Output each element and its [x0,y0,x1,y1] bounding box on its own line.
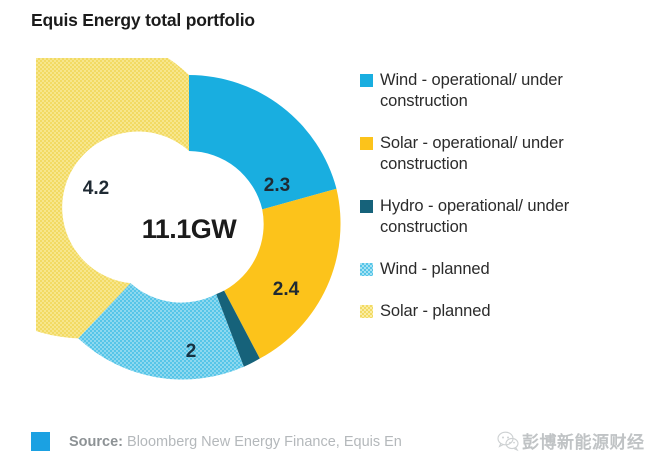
slice-solar-planned[interactable] [36,58,189,338]
legend-label-hydro-operational: Hydro - operational/ under construction [380,196,645,238]
legend-item-solar-operational[interactable]: Solar - operational/ under construction [360,133,645,175]
slice-label-solar-planned: 4.2 [83,178,109,199]
legend-item-hydro-operational[interactable]: Hydro - operational/ under construction [360,196,645,238]
legend-item-wind-planned[interactable]: Wind - planned [360,259,645,280]
source-detail: Bloomberg New Energy Finance, Equis En [123,434,402,450]
legend-swatch-hydro-operational [360,200,373,213]
source-text: Source: Bloomberg New Energy Finance, Eq… [69,434,402,450]
footer-swatch-icon [31,432,50,451]
watermark-text: 彭博新能源财经 [522,428,645,453]
legend-label-wind-planned: Wind - planned [380,259,490,280]
legend-swatch-wind-operational [360,74,373,87]
legend-swatch-solar-operational [360,137,373,150]
slice-label-wind-planned: 2 [186,341,197,362]
donut-center-total: 11.1GW [142,214,238,244]
wechat-logo-icon [497,430,519,452]
solar-planned-pattern-icon [360,305,373,318]
legend-item-solar-planned[interactable]: Solar - planned [360,301,645,322]
slice-wind-operational[interactable] [189,75,336,209]
source-label: Source: [69,434,123,450]
donut-chart-svg: 2.3 2.4 2 4.2 11.1GW [36,58,342,399]
legend-item-wind-operational[interactable]: Wind - operational/ under construction [360,70,645,112]
legend-label-wind-operational: Wind - operational/ under construction [380,70,645,112]
wind-planned-pattern-icon [360,263,373,276]
chart-legend: Wind - operational/ under construction S… [360,70,645,343]
legend-label-solar-planned: Solar - planned [380,301,490,322]
page-title: Equis Energy total portfolio [31,10,255,31]
legend-swatch-solar-planned [360,305,373,318]
slice-label-wind-operational: 2.3 [264,175,290,196]
donut-chart: 2.3 2.4 2 4.2 11.1GW [36,58,342,399]
legend-label-solar-operational: Solar - operational/ under construction [380,133,645,175]
slice-label-solar-operational: 2.4 [273,279,300,300]
watermark: 彭博新能源财经 [497,428,645,453]
legend-swatch-wind-planned [360,263,373,276]
